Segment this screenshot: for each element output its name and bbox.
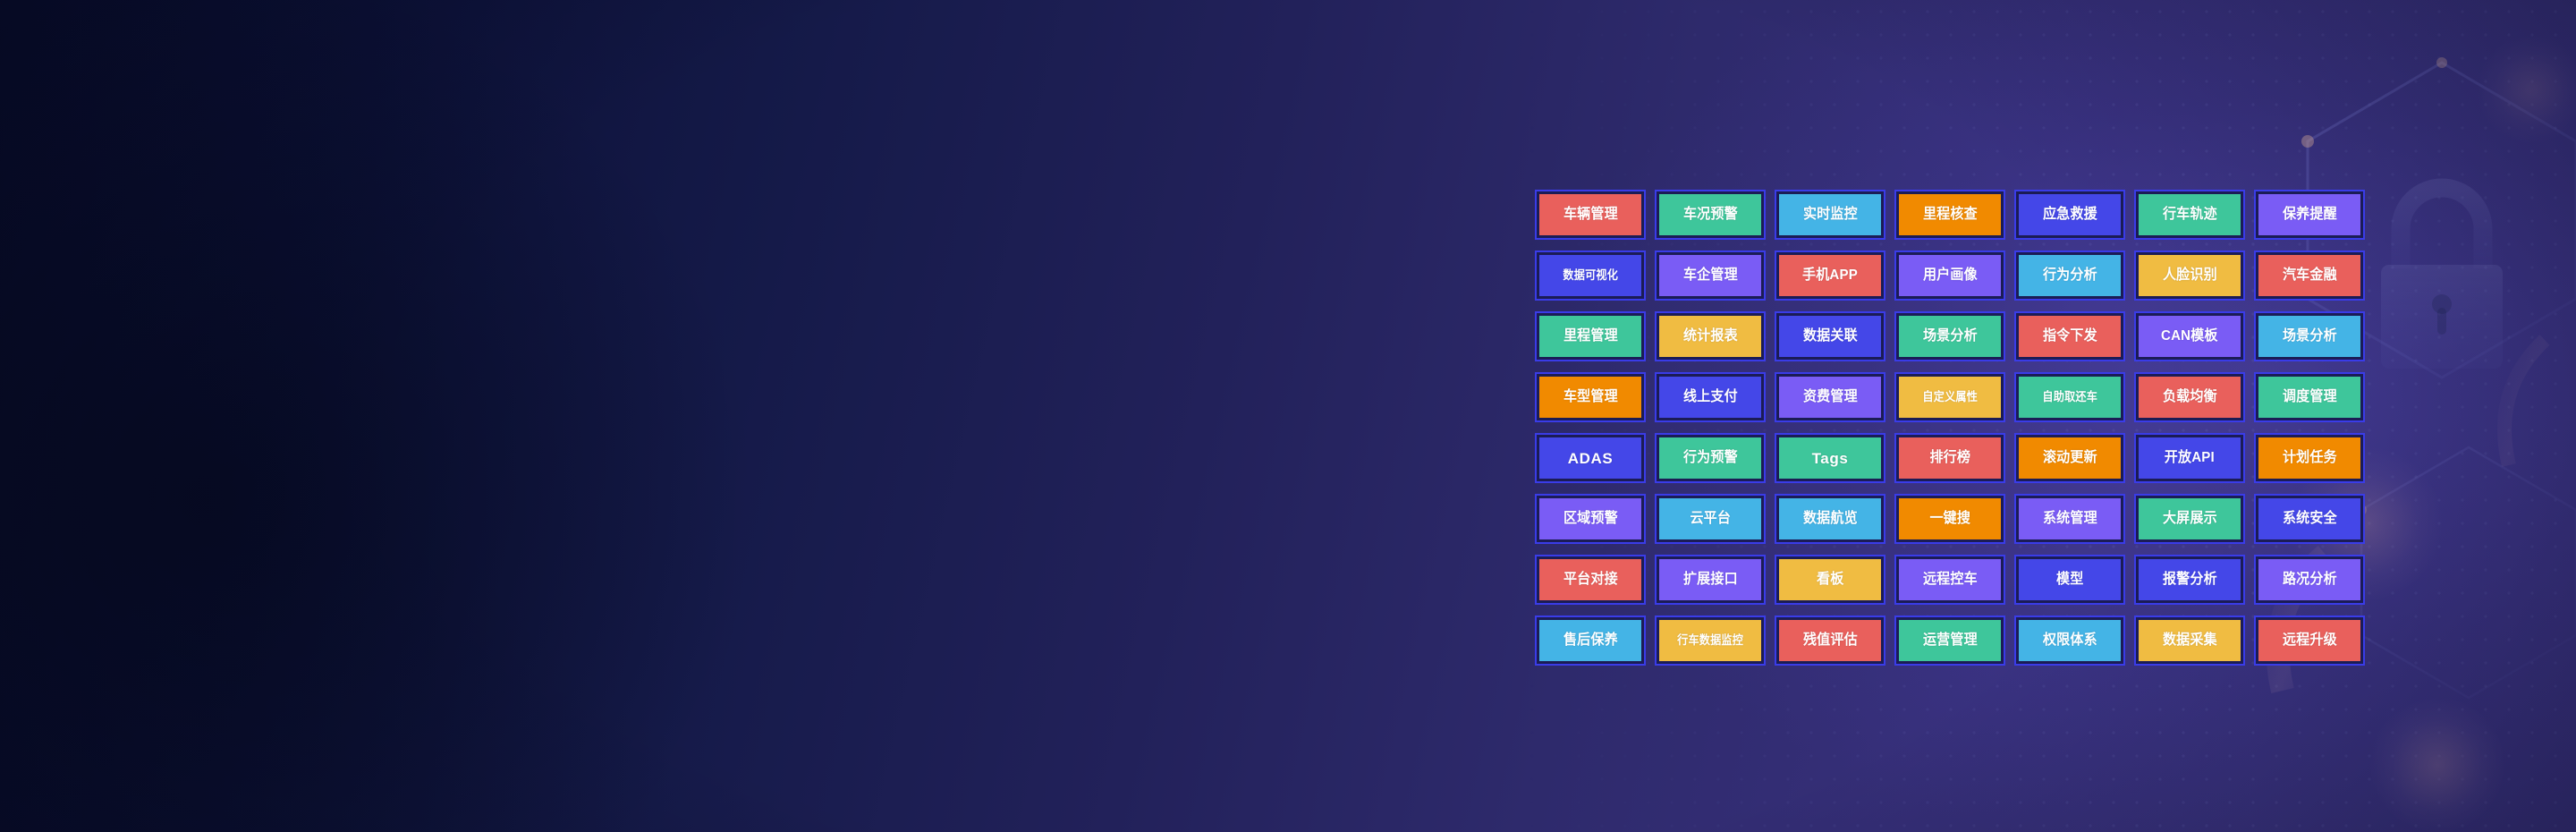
tile-label: 统计报表 [1683,329,1738,344]
tile-label: 行为预警 [1683,451,1738,465]
feature-tile[interactable]: 远程控车 [1894,555,2005,605]
tile-fill: 里程核查 [1899,194,2001,235]
tile-fill: 应急救援 [2019,194,2121,235]
tile-fill: 模型 [2019,559,2121,600]
tile-label: ADAS [1568,451,1614,466]
tile-label: 平台对接 [1563,573,1618,587]
feature-tile[interactable]: 里程核查 [1894,190,2005,240]
tile-label: 线上支付 [1683,390,1738,404]
tile-label: 行车轨迹 [2163,208,2217,222]
tile-fill: 用户画像 [1899,255,2001,296]
feature-tile[interactable]: 实时监控 [1775,190,1885,240]
tile-fill: 看板 [1779,559,1881,600]
feature-tile[interactable]: 自助取还车 [2014,372,2125,422]
feature-tile[interactable]: 汽车金融 [2254,250,2365,301]
tile-fill: 运营管理 [1899,620,2001,661]
tile-fill: 行车轨迹 [2139,194,2241,235]
feature-tile[interactable]: Tags [1775,433,1885,483]
tile-fill: 自助取还车 [2019,377,2121,418]
tile-label: 售后保养 [1563,633,1618,648]
tile-label: 模型 [2056,573,2083,587]
feature-tile[interactable]: 远程升级 [2254,616,2365,666]
feature-tile[interactable]: 人脸识别 [2134,250,2245,301]
feature-tile[interactable]: 数据采集 [2134,616,2245,666]
feature-tile[interactable]: 保养提醒 [2254,190,2365,240]
tile-label: 残值评估 [1803,633,1858,648]
tile-label: 人脸识别 [2163,268,2217,283]
tile-fill: 线上支付 [1659,377,1761,418]
feature-tile[interactable]: 系统安全 [2254,494,2365,544]
tile-fill: 车企管理 [1659,255,1761,296]
tile-fill: 车辆管理 [1539,194,1641,235]
tile-label: 云平台 [1690,512,1731,526]
tile-fill: 一键搜 [1899,498,2001,539]
feature-tile[interactable]: 路况分析 [2254,555,2365,605]
feature-tile[interactable]: 行车数据监控 [1655,616,1766,666]
tile-fill: 手机APP [1779,255,1881,296]
tile-fill: 残值评估 [1779,620,1881,661]
feature-tile[interactable]: 用户画像 [1894,250,2005,301]
tile-fill: 远程控车 [1899,559,2001,600]
feature-tile[interactable]: 计划任务 [2254,433,2365,483]
tile-fill: 车型管理 [1539,377,1641,418]
tile-fill: 区域预警 [1539,498,1641,539]
tile-fill: 车况预警 [1659,194,1761,235]
feature-tile[interactable]: 数据关联 [1775,311,1885,361]
tile-fill: 滚动更新 [2019,437,2121,479]
tile-label: 车辆管理 [1563,208,1618,222]
tile-label: 报警分析 [2163,573,2217,587]
tile-label: 里程核查 [1923,208,1978,222]
tile-label: 场景分析 [2283,329,2337,344]
tile-label: 车况预警 [1683,208,1738,222]
tile-fill: 计划任务 [2258,437,2360,479]
tile-label: 一键搜 [1929,512,1970,526]
tile-label: 排行榜 [1929,451,1970,465]
feature-tile[interactable]: 行为分析 [2014,250,2125,301]
feature-tile[interactable]: 车型管理 [1535,372,1646,422]
tile-fill: 大屏展示 [2139,498,2241,539]
tile-fill: 自定义属性 [1899,377,2001,418]
tile-fill: 售后保养 [1539,620,1641,661]
tile-label: Tags [1812,451,1849,466]
tile-fill: Tags [1779,437,1881,479]
tile-fill: 行为分析 [2019,255,2121,296]
tile-fill: 调度管理 [2258,377,2360,418]
tile-fill: 数据可视化 [1539,255,1641,296]
feature-tile[interactable]: 场景分析 [2254,311,2365,361]
tile-label: 开放API [2165,451,2215,465]
tile-label: 远程升级 [2283,633,2337,648]
tile-label: 运营管理 [1923,633,1978,648]
tile-label: 应急救援 [2043,208,2097,222]
feature-tile[interactable]: 报警分析 [2134,555,2245,605]
tile-fill: 数据航览 [1779,498,1881,539]
feature-tile[interactable]: 售后保养 [1535,616,1646,666]
feature-tile[interactable]: 指令下发 [2014,311,2125,361]
feature-tile[interactable]: CAN模板 [2134,311,2245,361]
tile-label: 区域预警 [1563,512,1618,526]
tile-label: 用户画像 [1923,268,1978,283]
feature-tile[interactable]: 数据可视化 [1535,250,1646,301]
feature-tile[interactable]: 云平台 [1655,494,1766,544]
tile-fill: 数据采集 [2139,620,2241,661]
feature-tile[interactable]: 权限体系 [2014,616,2125,666]
tile-fill: 汽车金融 [2258,255,2360,296]
feature-tile[interactable]: 一键搜 [1894,494,2005,544]
feature-tile[interactable]: 行为预警 [1655,433,1766,483]
feature-tile[interactable]: 应急救援 [2014,190,2125,240]
tile-fill: ADAS [1539,437,1641,479]
tile-label: 实时监控 [1803,208,1858,222]
tile-fill: 排行榜 [1899,437,2001,479]
feature-tile[interactable]: 线上支付 [1655,372,1766,422]
tile-label: 调度管理 [2283,390,2337,404]
tile-fill: 远程升级 [2258,620,2360,661]
tile-label: 远程控车 [1923,573,1978,587]
tile-label: CAN模板 [2161,329,2218,344]
feature-tile[interactable]: 车辆管理 [1535,190,1646,240]
tile-label: 负载均衡 [2163,390,2217,404]
tile-fill: 扩展接口 [1659,559,1761,600]
tile-label: 行车数据监控 [1677,634,1743,647]
feature-tile[interactable]: 排行榜 [1894,433,2005,483]
tile-label: 里程管理 [1563,329,1618,344]
tile-label: 数据采集 [2163,633,2217,648]
tile-fill: 权限体系 [2019,620,2121,661]
feature-tile[interactable]: 统计报表 [1655,311,1766,361]
tile-label: 资费管理 [1803,390,1858,404]
feature-tile[interactable]: 行车轨迹 [2134,190,2245,240]
tile-fill: CAN模板 [2139,316,2241,357]
tile-label: 保养提醒 [2283,208,2337,222]
tile-fill: 行车数据监控 [1659,620,1761,661]
tile-label: 车企管理 [1683,268,1738,283]
tile-fill: 统计报表 [1659,316,1761,357]
tile-label: 系统安全 [2283,512,2337,526]
feature-tile[interactable]: 模型 [2014,555,2125,605]
tile-label: 数据航览 [1803,512,1858,526]
feature-tile-grid: 车辆管理车况预警实时监控里程核查应急救援行车轨迹保养提醒数据可视化车企管理手机A… [1535,190,2365,666]
feature-tile[interactable]: 区域预警 [1535,494,1646,544]
tile-label: 车型管理 [1563,390,1618,404]
tile-label: 行为分析 [2043,268,2097,283]
feature-tile[interactable]: 里程管理 [1535,311,1646,361]
tile-fill: 负载均衡 [2139,377,2241,418]
feature-tile[interactable]: 资费管理 [1775,372,1885,422]
feature-tile[interactable]: 滚动更新 [2014,433,2125,483]
feature-tile[interactable]: 自定义属性 [1894,372,2005,422]
tile-label: 数据关联 [1803,329,1858,344]
tile-fill: 开放API [2139,437,2241,479]
feature-tile[interactable]: 车况预警 [1655,190,1766,240]
tile-label: 手机APP [1802,268,1858,283]
feature-tile[interactable]: 手机APP [1775,250,1885,301]
feature-tile[interactable]: 平台对接 [1535,555,1646,605]
tile-label: 扩展接口 [1683,573,1738,587]
tile-fill: 路况分析 [2258,559,2360,600]
tile-label: 大屏展示 [2163,512,2217,526]
tile-fill: 人脸识别 [2139,255,2241,296]
tile-label: 自定义属性 [1922,391,1978,403]
tile-label: 场景分析 [1923,329,1978,344]
tile-fill: 实时监控 [1779,194,1881,235]
tile-label: 自助取还车 [2042,391,2097,403]
tile-label: 权限体系 [2043,633,2097,648]
tile-fill: 指令下发 [2019,316,2121,357]
feature-tile[interactable]: 残值评估 [1775,616,1885,666]
feature-tile[interactable]: 运营管理 [1894,616,2005,666]
feature-tile[interactable]: 扩展接口 [1655,555,1766,605]
feature-tile[interactable]: 系统管理 [2014,494,2125,544]
feature-tile[interactable]: 车企管理 [1655,250,1766,301]
tile-fill: 行为预警 [1659,437,1761,479]
tile-label: 路况分析 [2283,573,2337,587]
tile-fill: 平台对接 [1539,559,1641,600]
tile-fill: 系统管理 [2019,498,2121,539]
tile-fill: 数据关联 [1779,316,1881,357]
tile-fill: 场景分析 [1899,316,2001,357]
tile-fill: 保养提醒 [2258,194,2360,235]
tile-label: 计划任务 [2283,451,2337,465]
tile-fill: 资费管理 [1779,377,1881,418]
tile-label: 数据可视化 [1563,269,1618,282]
tile-label: 看板 [1817,573,1843,587]
tile-fill: 场景分析 [2258,316,2360,357]
feature-tile[interactable]: 开放API [2134,433,2245,483]
tile-label: 系统管理 [2043,512,2097,526]
tile-fill: 里程管理 [1539,316,1641,357]
feature-tile[interactable]: 场景分析 [1894,311,2005,361]
tile-label: 汽车金融 [2283,268,2337,283]
tile-fill: 云平台 [1659,498,1761,539]
feature-tile[interactable]: 调度管理 [2254,372,2365,422]
feature-tile[interactable]: 负载均衡 [2134,372,2245,422]
tile-label: 滚动更新 [2043,451,2097,465]
feature-tile[interactable]: 看板 [1775,555,1885,605]
feature-tile[interactable]: ADAS [1535,433,1646,483]
feature-tile[interactable]: 数据航览 [1775,494,1885,544]
tile-label: 指令下发 [2043,329,2097,344]
tile-fill: 系统安全 [2258,498,2360,539]
tile-fill: 报警分析 [2139,559,2241,600]
feature-tile[interactable]: 大屏展示 [2134,494,2245,544]
